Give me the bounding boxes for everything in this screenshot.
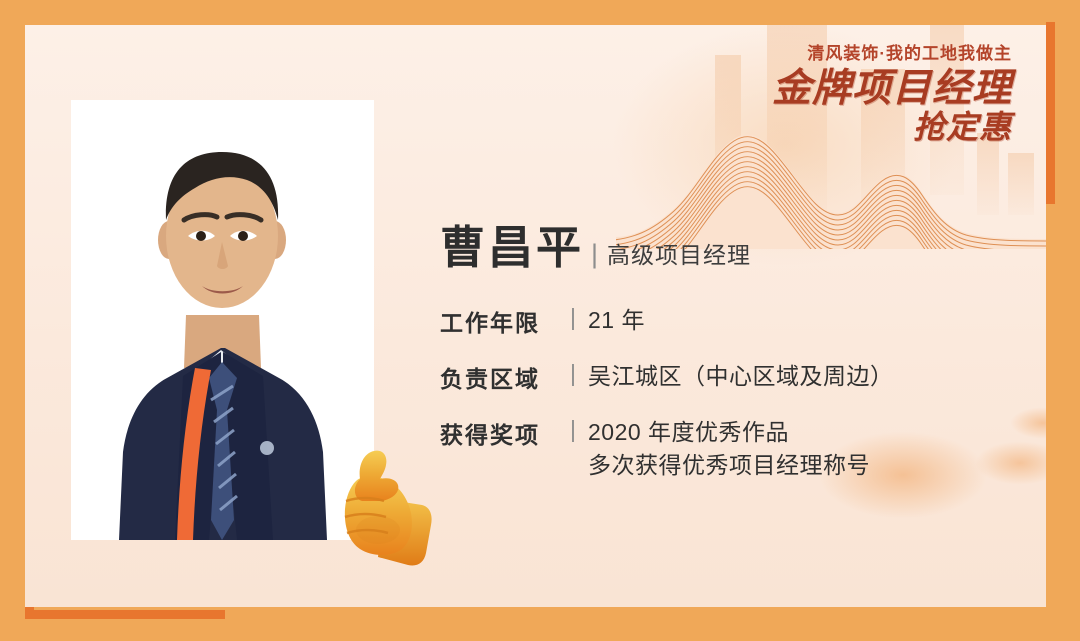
poster-card: 清风装饰·我的工地我做主 金牌项目经理 抢定惠 [25,25,1046,607]
detail-value-awards-line2: 多次获得优秀项目经理称号 [588,449,870,482]
detail-value-area: 吴江城区（中心区域及周边） [588,360,894,393]
detail-separator-area: | [570,360,576,387]
detail-separator-awards: | [570,416,576,443]
detail-value-awards-line1: 2020 年度优秀作品 [588,419,789,445]
corner-accent-top-right-horizontal [1046,22,1055,31]
detail-label-experience: 工作年限 [440,304,558,338]
brand-slogan: 清风装饰·我的工地我做主 [682,43,1012,65]
thumbs-up-icon [300,435,450,585]
campaign-headline: 金牌项目经理 [682,68,1012,109]
detail-label-awards: 获得奖项 [440,416,558,450]
poster-canvas: 清风装饰·我的工地我做主 金牌项目经理 抢定惠 [0,0,1080,641]
detail-separator-experience: | [570,304,576,331]
manager-name: 曹昌平 [440,225,584,270]
manager-role: 高级项目经理 [607,236,751,270]
detail-row-awards: 获得奖项 | 2020 年度优秀作品 多次获得优秀项目经理称号 [440,416,1000,481]
name-row: 曹昌平 | 高级项目经理 [440,225,1000,270]
detail-value-experience: 21 年 [588,304,645,337]
detail-label-area: 负责区域 [440,360,558,394]
detail-row-area: 负责区域 | 吴江城区（中心区域及周边） [440,360,1000,394]
manager-info-panel: 曹昌平 | 高级项目经理 工作年限 | 21 年 负责区域 | 吴江城区（中心区… [440,225,1000,503]
name-separator: | [591,239,598,270]
corner-accent-bottom-left-horizontal [25,610,225,619]
headline-block: 清风装饰·我的工地我做主 金牌项目经理 抢定惠 [682,43,1012,145]
corner-accent-top-right-vertical [1046,22,1055,204]
campaign-subhead: 抢定惠 [682,111,1012,145]
detail-value-awards: 2020 年度优秀作品 多次获得优秀项目经理称号 [588,416,870,481]
detail-row-experience: 工作年限 | 21 年 [440,304,1000,338]
